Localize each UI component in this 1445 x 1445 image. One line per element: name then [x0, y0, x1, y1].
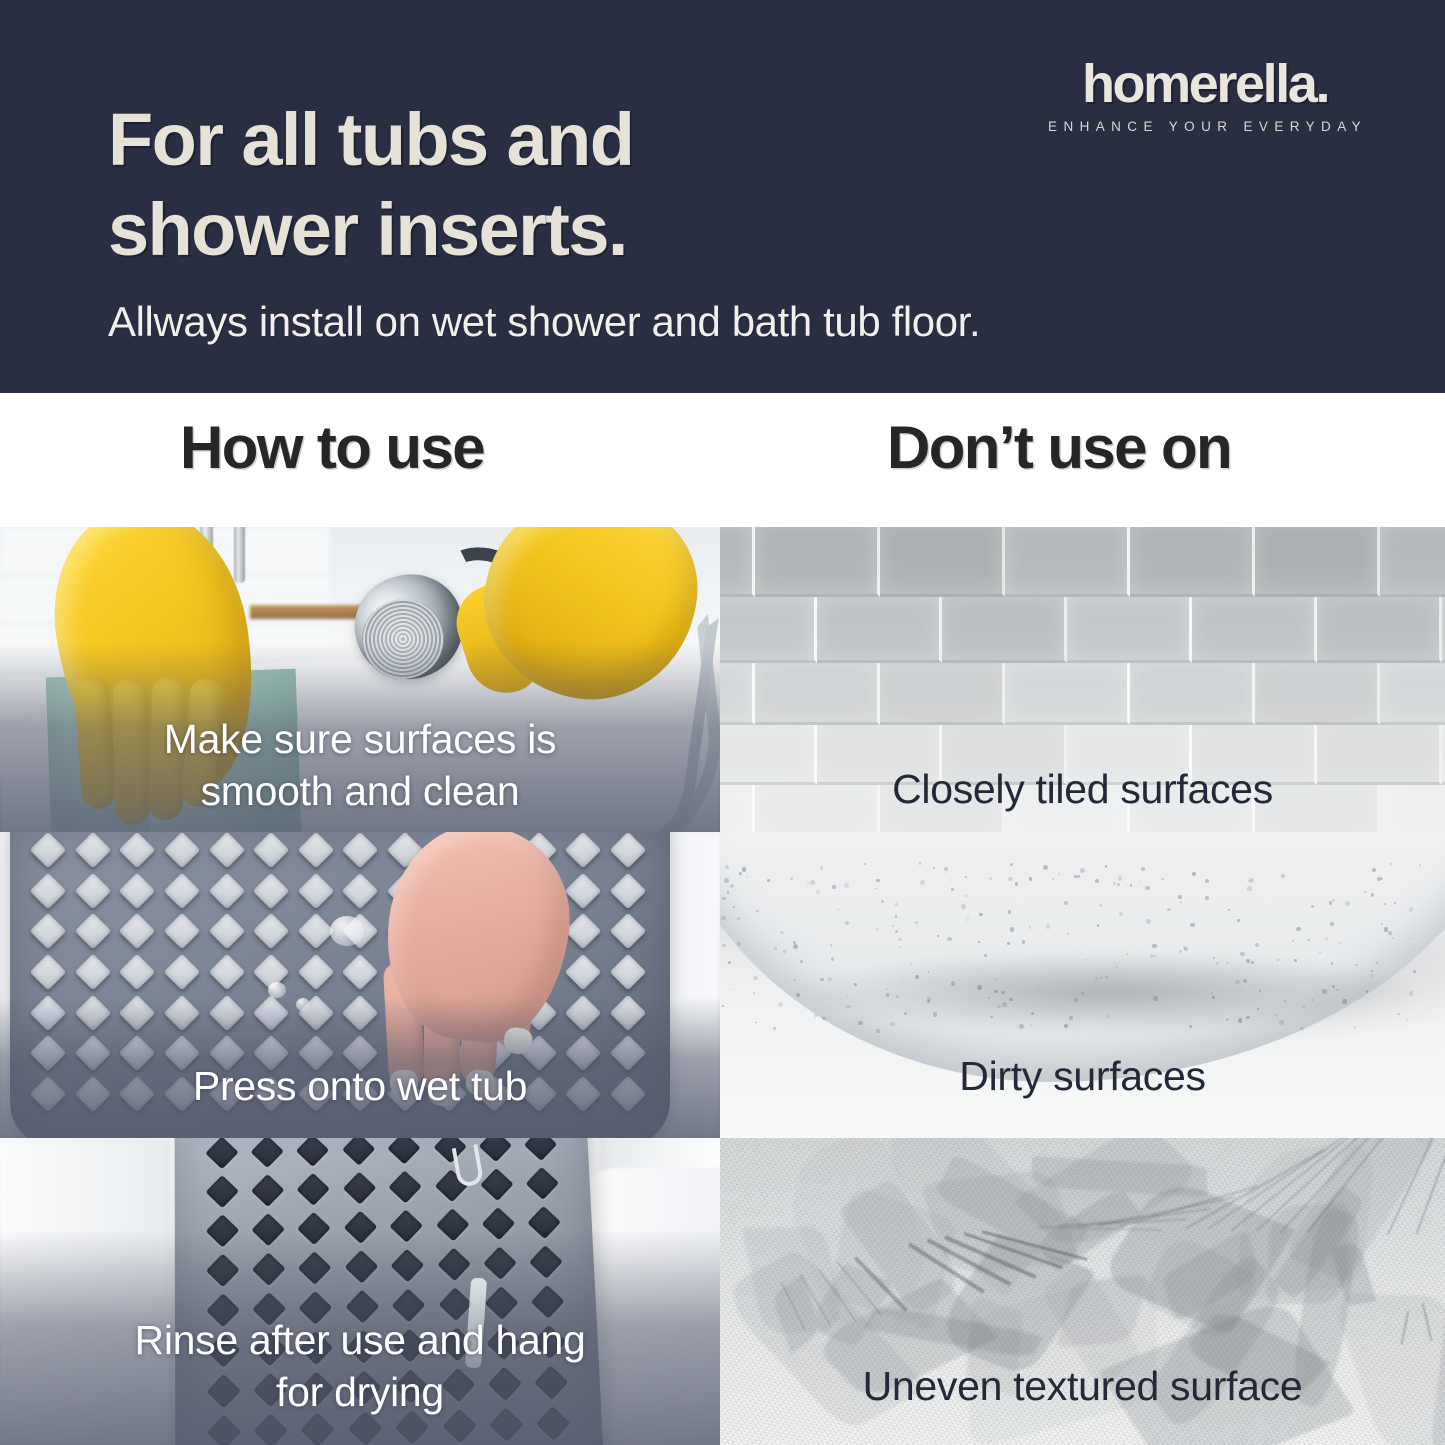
grime-speck	[937, 935, 938, 936]
grime-speck	[728, 961, 731, 964]
mat-perforation	[609, 954, 646, 991]
grime-speck	[722, 1005, 724, 1007]
grime-speck	[1146, 919, 1151, 924]
mat-perforation	[297, 954, 334, 991]
mat-perforation	[480, 1168, 514, 1201]
mat-perforation	[164, 832, 201, 869]
mat-perforation	[342, 832, 379, 869]
grime-speck	[1105, 976, 1108, 979]
grime-speck	[1311, 905, 1314, 908]
grime-speck	[739, 872, 741, 874]
warning-3-tile: Uneven textured surface	[720, 1138, 1445, 1445]
grime-speck	[1247, 886, 1252, 891]
grime-speck	[1029, 877, 1032, 880]
grime-speck	[1240, 988, 1241, 989]
grime-speck	[944, 867, 948, 871]
column-titles-band: How to use Don’t use on	[0, 393, 1445, 527]
grime-speck	[933, 1012, 938, 1017]
grime-speck	[961, 904, 966, 909]
grime-speck	[1409, 991, 1413, 995]
mat-perforation	[342, 954, 379, 991]
grime-speck	[753, 992, 755, 994]
grime-speck	[1279, 1020, 1284, 1025]
grime-speck	[978, 941, 979, 942]
grime-speck	[1366, 990, 1369, 993]
grime-speck	[1015, 882, 1018, 885]
grime-speck	[828, 977, 832, 981]
mat-perforation	[297, 832, 334, 869]
step-2-caption: Press onto wet tub	[0, 1060, 720, 1112]
grime-speck	[1105, 865, 1108, 868]
grime-speck	[1115, 982, 1116, 983]
grime-speck	[810, 880, 815, 885]
grime-speck	[1388, 931, 1392, 935]
grime-speck	[892, 883, 893, 884]
mat-perforation	[343, 1172, 377, 1205]
grime-speck	[890, 1022, 894, 1026]
mat-perforation	[565, 832, 602, 869]
mat-perforation	[119, 832, 156, 869]
grime-speck	[1370, 974, 1373, 977]
mat-perforation	[251, 1174, 285, 1207]
warning-2-tile: Dirty surfaces	[720, 832, 1445, 1138]
grime-speck	[1294, 959, 1297, 962]
grime-speck	[1355, 964, 1357, 966]
mat-perforation	[524, 1138, 557, 1161]
grime-speck	[722, 944, 726, 948]
mat-perforation	[30, 832, 67, 869]
grime-speck	[753, 976, 758, 981]
grime-speck	[1009, 978, 1010, 979]
grime-speck	[746, 876, 748, 878]
grime-speck	[937, 967, 938, 968]
grime-speck	[1052, 878, 1054, 880]
grime-speck	[724, 878, 729, 883]
grime-speck	[1002, 1002, 1007, 1007]
grime-speck	[994, 990, 998, 994]
instruction-grid: Make sure surfaces is smooth and clean C…	[0, 527, 1445, 1445]
warning-1-caption: Closely tiled surfaces	[720, 763, 1445, 815]
mat-perforation	[297, 913, 334, 950]
grime-speck	[1332, 985, 1335, 988]
step-3-tile: Rinse after use and hang for drying	[0, 1138, 720, 1445]
mat-perforation	[253, 832, 290, 869]
grime-speck	[1192, 872, 1196, 876]
mat-perforation	[389, 1171, 423, 1204]
grime-speck	[876, 879, 879, 882]
grime-speck	[1113, 882, 1116, 885]
grime-speck	[1161, 878, 1163, 880]
grime-speck	[778, 1002, 783, 1007]
grime-speck	[1336, 989, 1338, 991]
grime-speck	[722, 897, 726, 901]
mat-perforation	[208, 832, 245, 869]
grime-speck	[1307, 939, 1310, 942]
mat-perforation	[74, 872, 111, 909]
warning-3-caption: Uneven textured surface	[720, 1360, 1445, 1412]
grime-speck	[831, 957, 835, 961]
mat-perforation	[164, 872, 201, 909]
mat-perforation	[30, 954, 67, 991]
grime-speck	[807, 882, 809, 884]
grime-speck	[1008, 877, 1012, 881]
page-headline: For all tubs and shower inserts.	[108, 95, 1108, 276]
grime-speck	[858, 1021, 863, 1026]
mat-perforation	[30, 913, 67, 950]
step-1-caption: Make sure surfaces is smooth and clean	[0, 713, 720, 818]
grime-speck	[1130, 884, 1132, 886]
mat-perforation	[565, 872, 602, 909]
grime-speck	[1009, 998, 1012, 1001]
mat-perforation	[119, 954, 156, 991]
grime-speck	[1008, 910, 1011, 913]
grime-speck	[773, 1027, 776, 1030]
mat-perforation	[479, 1138, 512, 1163]
grime-speck	[1074, 998, 1078, 1002]
grime-speck	[729, 989, 731, 991]
grime-speck	[832, 885, 836, 889]
mat-perforation	[30, 872, 67, 909]
mat-perforation	[164, 954, 201, 991]
grime-speck	[755, 1022, 757, 1024]
mat-perforation	[119, 872, 156, 909]
column-title-dont-use-on: Don’t use on	[887, 413, 1231, 482]
mat-perforation	[208, 954, 245, 991]
grime-speck	[1095, 879, 1099, 883]
grime-speck	[1037, 991, 1038, 992]
grime-speck	[967, 917, 969, 919]
grime-speck	[1019, 1024, 1024, 1029]
grime-speck	[904, 1012, 907, 1015]
mat-perforation	[526, 1167, 560, 1200]
grime-speck	[1095, 977, 1098, 980]
mat-perforation	[342, 872, 379, 909]
step-2-tile: Press onto wet tub	[0, 832, 720, 1138]
grime-speck	[1406, 1018, 1409, 1021]
grime-speck	[1141, 867, 1145, 871]
grime-speck	[1257, 1008, 1259, 1010]
mat-perforation	[297, 872, 334, 909]
brand-logo-wordmark: homerella.	[1043, 57, 1367, 111]
column-title-how-to-use: How to use	[180, 413, 484, 482]
grime-speck	[1145, 886, 1150, 891]
mat-perforation	[74, 913, 111, 950]
grime-speck	[933, 867, 935, 869]
grime-speck	[1342, 999, 1346, 1003]
grime-speck	[1067, 933, 1068, 934]
mat-perforation	[164, 913, 201, 950]
grime-speck	[1275, 1014, 1277, 1016]
grime-speck	[895, 915, 898, 918]
grime-speck	[876, 1029, 880, 1033]
grime-speck	[920, 880, 925, 885]
mat-perforation	[205, 1175, 239, 1208]
grime-speck	[742, 867, 746, 871]
grime-speck	[1031, 1012, 1034, 1015]
grime-speck	[1080, 868, 1085, 873]
grime-speck	[898, 938, 901, 941]
grime-speck	[814, 1014, 817, 1017]
grime-speck	[730, 884, 734, 888]
grime-speck	[1069, 1016, 1073, 1020]
mat-perforation	[208, 872, 245, 909]
page-subheadline: Allways install on wet shower and bath t…	[108, 298, 1108, 346]
grime-speck	[1235, 980, 1239, 984]
mat-perforation	[565, 913, 602, 950]
grime-speck	[919, 862, 922, 865]
mat-perforation	[565, 954, 602, 991]
grime-speck	[1010, 927, 1014, 931]
mat-perforation	[119, 913, 156, 950]
grime-speck	[1390, 863, 1392, 865]
grime-speck	[895, 903, 897, 905]
grime-speck	[1255, 943, 1259, 947]
warning-1-tile: Closely tiled surfaces	[720, 527, 1445, 832]
grime-speck	[1394, 902, 1396, 904]
grime-speck	[950, 879, 951, 880]
grime-speck	[1322, 989, 1327, 994]
grime-speck	[816, 890, 820, 894]
infographic-page: For all tubs and shower inserts. Allways…	[0, 0, 1445, 1445]
grime-speck	[896, 995, 899, 998]
grime-speck	[1376, 962, 1378, 964]
brand-logo-tagline: ENHANCE YOUR EVERYDAY	[1043, 120, 1367, 134]
grime-speck	[876, 928, 879, 931]
grime-speck	[1277, 959, 1279, 961]
grime-speck	[961, 961, 962, 962]
grime-speck	[1212, 996, 1215, 999]
mat-perforation	[74, 954, 111, 991]
header-text-block: For all tubs and shower inserts. Allways…	[108, 95, 1108, 346]
grime-speck	[1246, 1016, 1249, 1019]
grime-speck	[1248, 880, 1250, 882]
grime-speck	[984, 954, 987, 957]
mat-perforation	[205, 1138, 238, 1170]
grime-speck	[1099, 904, 1102, 907]
mat-perforation	[609, 913, 646, 950]
grime-speck	[783, 950, 786, 953]
grime-speck	[1119, 912, 1123, 916]
mat-perforation	[297, 1173, 331, 1206]
brand-logo: homerella. ENHANCE YOUR EVERYDAY	[1043, 57, 1367, 134]
grime-speck	[1312, 999, 1313, 1000]
grime-speck	[1046, 924, 1051, 929]
grime-speck	[793, 979, 795, 981]
grime-speck	[1377, 877, 1381, 881]
grime-speck	[1238, 1018, 1242, 1022]
mat-perforation	[342, 1138, 375, 1166]
grime-speck	[990, 1016, 992, 1018]
grime-speck	[1107, 1015, 1110, 1018]
mat-perforation	[609, 872, 646, 909]
mat-perforation	[253, 872, 290, 909]
mat-perforation	[609, 832, 646, 869]
mat-perforation	[387, 1138, 420, 1165]
grime-speck	[1116, 966, 1118, 968]
grime-speck	[780, 931, 783, 934]
grime-speck	[1077, 875, 1079, 877]
grime-speck	[1284, 1000, 1286, 1002]
mat-perforation	[296, 1138, 329, 1167]
grime-speck	[1384, 903, 1386, 905]
grime-speck	[1205, 879, 1209, 883]
grime-speck	[1178, 895, 1182, 899]
mat-perforation	[253, 913, 290, 950]
grime-speck	[1240, 952, 1244, 956]
grime-speck	[977, 985, 982, 990]
grime-speck	[1405, 968, 1406, 969]
grime-speck	[1007, 942, 1010, 945]
header-banner: For all tubs and shower inserts. Allways…	[0, 0, 1445, 393]
grime-speck	[1419, 864, 1421, 866]
grime-speck	[900, 946, 901, 947]
grime-speck	[1081, 992, 1084, 995]
grime-speck	[845, 921, 849, 925]
grime-speck	[767, 879, 770, 882]
grime-speck	[820, 978, 823, 981]
mat-perforation	[74, 832, 111, 869]
warning-2-caption: Dirty surfaces	[720, 1050, 1445, 1102]
grime-speck	[1325, 937, 1328, 940]
grime-speck	[958, 887, 959, 888]
step-1-tile: Make sure surfaces is smooth and clean	[0, 527, 720, 832]
grime-speck	[1061, 940, 1062, 941]
grime-speck	[927, 1000, 930, 1003]
mat-perforation	[208, 913, 245, 950]
grime-speck	[1097, 924, 1100, 927]
grime-speck	[725, 865, 729, 869]
mat-perforation	[251, 1138, 284, 1168]
grime-speck	[1154, 955, 1156, 957]
grime-speck	[1259, 990, 1261, 992]
grime-speck	[1339, 942, 1341, 944]
grime-speck	[1372, 868, 1376, 872]
step-3-caption: Rinse after use and hang for drying	[0, 1314, 720, 1419]
grime-speck	[988, 997, 990, 999]
